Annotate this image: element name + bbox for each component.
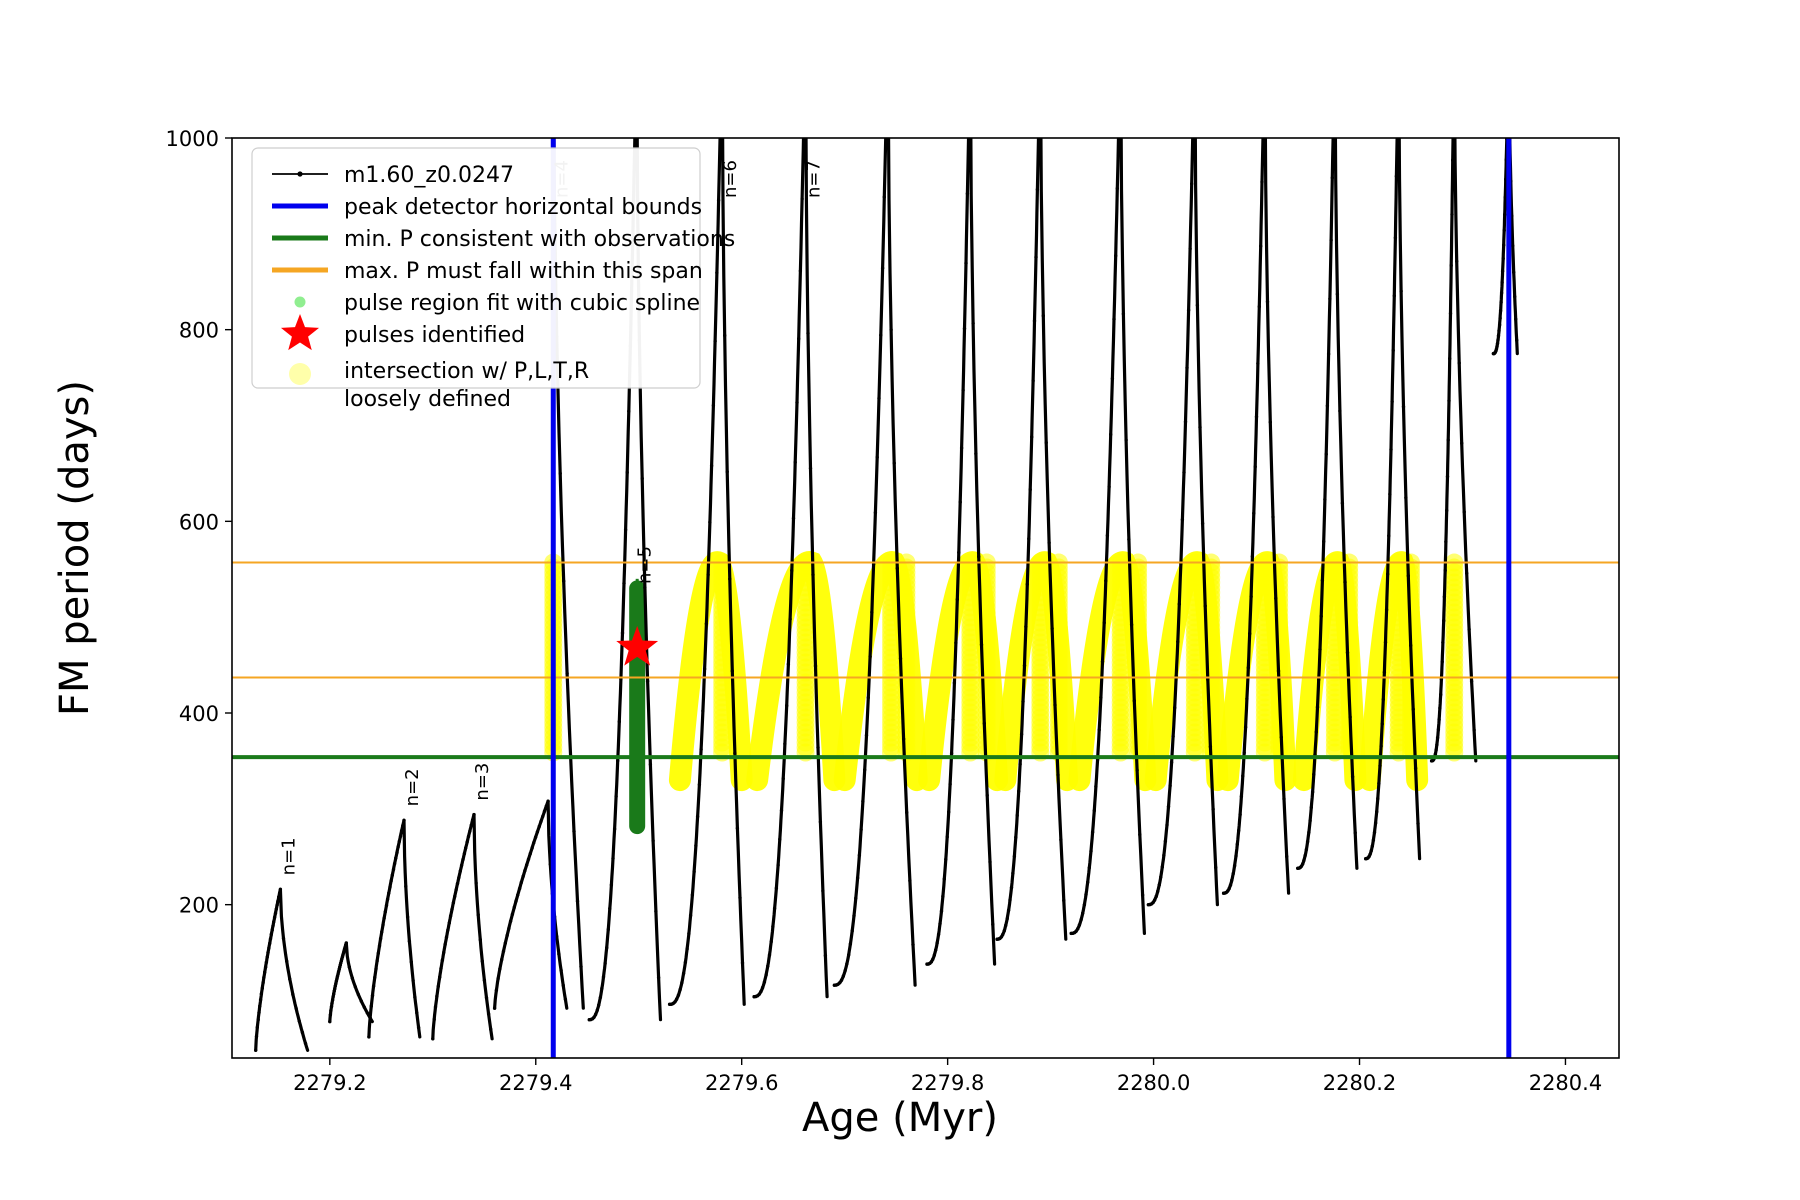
series-point bbox=[719, 122, 722, 125]
series-point bbox=[863, 768, 866, 771]
series-point bbox=[654, 910, 657, 913]
series-point bbox=[1237, 829, 1240, 832]
series-point bbox=[1329, 238, 1332, 241]
series-point bbox=[1318, 648, 1321, 651]
series-point bbox=[977, 555, 980, 558]
series-point bbox=[986, 794, 989, 797]
series-point bbox=[879, 333, 882, 336]
series-point bbox=[271, 928, 274, 931]
series-point bbox=[770, 940, 773, 943]
series-point bbox=[608, 907, 611, 910]
series-point bbox=[1455, 260, 1458, 263]
series-point bbox=[1104, 579, 1107, 582]
series-point bbox=[530, 846, 533, 849]
series-point bbox=[386, 898, 389, 901]
series-point bbox=[763, 980, 766, 983]
series-point bbox=[1497, 329, 1500, 332]
series-point bbox=[1114, 254, 1117, 257]
series-point bbox=[859, 828, 862, 831]
series-point bbox=[1315, 730, 1318, 733]
series-point bbox=[1161, 865, 1164, 868]
series-point bbox=[511, 913, 514, 916]
series-point bbox=[896, 567, 899, 570]
series-point bbox=[1514, 317, 1517, 320]
series-point bbox=[1081, 912, 1084, 915]
series-point bbox=[809, 467, 812, 470]
series-point bbox=[963, 327, 966, 330]
series-point bbox=[363, 1006, 366, 1009]
series-point bbox=[856, 876, 859, 879]
series-point bbox=[1047, 541, 1050, 544]
series-point bbox=[614, 795, 617, 798]
series-point bbox=[1176, 640, 1179, 643]
series-point bbox=[701, 709, 704, 712]
series-point bbox=[1311, 790, 1314, 793]
series-point bbox=[460, 864, 463, 867]
x-tick-label: 2280.2 bbox=[1323, 1071, 1396, 1095]
series-point bbox=[396, 845, 399, 848]
series-point bbox=[1306, 840, 1309, 843]
series-point bbox=[532, 841, 535, 844]
series-point bbox=[379, 937, 382, 940]
series-point bbox=[771, 925, 774, 928]
series-point bbox=[1507, 67, 1510, 70]
series-point bbox=[1441, 641, 1444, 644]
series-point bbox=[1214, 866, 1217, 869]
series-point bbox=[1010, 886, 1013, 889]
series-point bbox=[1320, 615, 1323, 618]
legend: m1.60_z0.0247peak detector horizontal bo… bbox=[252, 148, 735, 412]
series-point bbox=[291, 993, 294, 996]
series-point bbox=[271, 924, 274, 927]
series-point bbox=[1450, 264, 1453, 267]
series-point bbox=[1263, 41, 1266, 44]
series-point bbox=[1201, 522, 1204, 525]
series-point bbox=[529, 852, 532, 855]
series-point bbox=[785, 704, 788, 707]
series-point bbox=[1256, 362, 1259, 365]
x-tick-label: 2279.8 bbox=[911, 1071, 984, 1095]
series-point bbox=[1277, 669, 1280, 672]
series-point bbox=[1302, 859, 1305, 862]
series-point bbox=[761, 986, 764, 989]
series-point bbox=[1266, 300, 1269, 303]
series-point bbox=[448, 921, 451, 924]
series-point bbox=[1188, 247, 1191, 250]
series-point bbox=[1030, 435, 1033, 438]
series-point bbox=[787, 662, 790, 665]
series-point bbox=[402, 819, 405, 822]
series-point bbox=[259, 998, 262, 1001]
series-point bbox=[811, 573, 814, 576]
series-point bbox=[1331, 176, 1334, 179]
series-point bbox=[495, 989, 498, 992]
series-point bbox=[1017, 790, 1020, 793]
legend-label: pulse region fit with cubic spline bbox=[344, 291, 700, 316]
series-point bbox=[329, 1013, 332, 1016]
series-point bbox=[1001, 933, 1004, 936]
series-point bbox=[1021, 700, 1024, 703]
series-point bbox=[708, 520, 711, 523]
series-point bbox=[1370, 849, 1373, 852]
peak-label-n-5: n=5 bbox=[635, 546, 656, 584]
series-point bbox=[1395, 175, 1398, 178]
series-point bbox=[1122, 312, 1125, 315]
series-point bbox=[1495, 345, 1498, 348]
series-point bbox=[1341, 501, 1344, 504]
series-point bbox=[1117, 116, 1120, 119]
series-point bbox=[470, 824, 473, 827]
series-point bbox=[1404, 496, 1407, 499]
series-point bbox=[446, 928, 449, 931]
series-point bbox=[521, 875, 524, 878]
series-point bbox=[1387, 534, 1390, 537]
series-point bbox=[438, 975, 441, 978]
series-point bbox=[1451, 159, 1454, 162]
series-point bbox=[254, 1049, 257, 1052]
series-point bbox=[865, 734, 868, 737]
series-point bbox=[783, 742, 786, 745]
series-point bbox=[1211, 807, 1214, 810]
series-point bbox=[559, 472, 562, 475]
series-point bbox=[678, 988, 681, 991]
series-point bbox=[713, 339, 716, 342]
series-point bbox=[331, 998, 334, 1001]
series-point bbox=[328, 1020, 331, 1023]
series-point bbox=[1244, 726, 1247, 729]
series-point bbox=[696, 815, 699, 818]
series-point bbox=[677, 994, 680, 997]
series-point bbox=[931, 958, 934, 961]
series-point bbox=[260, 992, 263, 995]
series-point bbox=[1368, 853, 1371, 856]
series-point bbox=[493, 1007, 496, 1010]
series-point bbox=[1450, 213, 1453, 216]
series-point bbox=[1303, 854, 1306, 857]
series-point bbox=[266, 956, 269, 959]
series-point bbox=[1198, 426, 1201, 429]
series-point bbox=[1076, 927, 1079, 930]
series-point bbox=[819, 820, 822, 823]
series-point bbox=[465, 841, 468, 844]
series-point bbox=[1185, 366, 1188, 369]
series-point bbox=[1243, 751, 1246, 754]
series-point bbox=[1343, 580, 1346, 583]
series-point bbox=[1101, 660, 1104, 663]
series-point bbox=[387, 891, 390, 894]
series-point bbox=[1234, 854, 1237, 857]
series-point bbox=[433, 1018, 436, 1021]
series-point bbox=[858, 854, 861, 857]
series-point bbox=[471, 818, 474, 821]
series-point bbox=[797, 337, 800, 340]
series-point bbox=[698, 783, 701, 786]
series-point bbox=[966, 192, 969, 195]
series-point bbox=[394, 856, 397, 859]
series-point bbox=[276, 899, 279, 902]
series-point bbox=[1241, 774, 1244, 777]
series-point bbox=[1397, 41, 1400, 44]
series-point bbox=[304, 1042, 307, 1045]
series-point bbox=[282, 937, 285, 940]
series-point bbox=[1402, 405, 1405, 408]
series-point bbox=[684, 961, 687, 964]
series-point bbox=[1138, 833, 1141, 836]
series-point bbox=[267, 946, 270, 949]
series-point bbox=[804, 41, 807, 44]
series-point bbox=[1447, 399, 1450, 402]
series-point bbox=[643, 586, 646, 589]
series-point bbox=[1037, 116, 1040, 119]
series-point bbox=[1059, 838, 1062, 841]
series-point bbox=[468, 829, 471, 832]
series-point bbox=[1251, 555, 1254, 558]
series-point bbox=[261, 981, 264, 984]
series-point bbox=[1271, 515, 1274, 518]
series-point bbox=[523, 869, 526, 872]
series-point bbox=[1098, 728, 1101, 731]
series-point bbox=[1498, 317, 1501, 320]
series-point bbox=[1501, 269, 1504, 272]
series-point bbox=[1024, 625, 1027, 628]
series-point bbox=[1351, 775, 1354, 778]
series-point bbox=[273, 916, 276, 919]
series-point bbox=[1446, 475, 1449, 478]
series-point bbox=[389, 879, 392, 882]
series-point bbox=[712, 404, 715, 407]
series-point bbox=[1247, 666, 1250, 669]
series-point bbox=[940, 909, 943, 912]
series-point bbox=[1260, 180, 1263, 183]
series-point bbox=[956, 598, 959, 601]
series-point bbox=[1416, 822, 1419, 825]
series-point bbox=[483, 979, 486, 982]
series-point bbox=[680, 981, 683, 984]
series-point bbox=[886, 41, 889, 44]
series-point bbox=[1187, 308, 1190, 311]
series-point bbox=[607, 928, 610, 931]
series-point bbox=[274, 912, 277, 915]
series-point bbox=[1447, 438, 1450, 441]
series-point bbox=[782, 777, 785, 780]
series-point bbox=[991, 923, 994, 926]
series-point bbox=[277, 895, 280, 898]
series-point bbox=[741, 961, 744, 964]
series-point bbox=[1171, 735, 1174, 738]
series-point bbox=[1438, 706, 1441, 709]
series-point bbox=[736, 827, 739, 830]
series-point bbox=[1379, 744, 1382, 747]
series-point bbox=[1465, 572, 1468, 575]
series-point bbox=[1384, 641, 1387, 644]
series-point bbox=[840, 979, 843, 982]
series-point bbox=[692, 870, 695, 873]
series-point bbox=[790, 569, 793, 572]
series-point bbox=[404, 885, 407, 888]
series-point bbox=[1089, 849, 1092, 852]
series-point bbox=[1238, 813, 1241, 816]
series-point bbox=[398, 840, 401, 843]
series-point bbox=[1375, 810, 1378, 813]
peak-label-n-7: n=7 bbox=[804, 160, 825, 198]
series-point bbox=[373, 976, 376, 979]
series-point bbox=[1007, 909, 1010, 912]
series-point bbox=[400, 829, 403, 832]
series-point bbox=[1026, 583, 1029, 586]
series-point bbox=[391, 874, 394, 877]
series-point bbox=[868, 655, 871, 658]
series-point bbox=[602, 975, 605, 978]
series-point bbox=[1385, 608, 1388, 611]
series-point bbox=[946, 835, 949, 838]
series-point bbox=[792, 517, 795, 520]
series-point bbox=[616, 759, 619, 762]
series-point bbox=[1093, 809, 1096, 812]
series-point bbox=[974, 452, 977, 455]
series-point bbox=[597, 1003, 600, 1006]
series-point bbox=[301, 1031, 304, 1034]
series-point bbox=[457, 876, 460, 879]
series-point bbox=[1393, 294, 1396, 297]
series-point bbox=[969, 41, 972, 44]
series-point bbox=[1381, 722, 1384, 725]
legend-glyph-dot bbox=[295, 297, 306, 308]
series-point bbox=[481, 960, 484, 963]
series-point bbox=[948, 783, 951, 786]
series-point bbox=[1193, 41, 1196, 44]
series-point bbox=[1325, 453, 1328, 456]
series-point bbox=[1155, 895, 1158, 898]
series-point bbox=[1236, 843, 1239, 846]
series-point bbox=[1498, 323, 1501, 326]
series-point bbox=[618, 720, 621, 723]
series-point bbox=[450, 908, 453, 911]
series-point bbox=[1394, 236, 1397, 239]
series-point bbox=[884, 120, 887, 123]
series-point bbox=[1308, 819, 1311, 822]
series-point bbox=[960, 446, 963, 449]
series-point bbox=[594, 1013, 597, 1016]
series-point bbox=[1280, 736, 1283, 739]
series-point bbox=[1050, 627, 1053, 630]
series-point bbox=[395, 851, 398, 854]
series-point bbox=[288, 978, 291, 981]
series-point bbox=[728, 577, 731, 580]
series-point bbox=[1233, 864, 1236, 867]
series-point bbox=[256, 1026, 259, 1029]
series-point bbox=[298, 1019, 301, 1022]
series-point bbox=[1452, 101, 1455, 104]
series-point bbox=[294, 1007, 297, 1010]
series-point bbox=[504, 942, 507, 945]
series-point bbox=[1316, 705, 1319, 708]
series-point bbox=[431, 1037, 434, 1040]
series-point bbox=[1167, 805, 1170, 808]
series-point bbox=[780, 809, 783, 812]
series-point bbox=[275, 903, 278, 906]
series-point bbox=[881, 266, 884, 269]
series-point bbox=[1173, 706, 1176, 709]
series-point bbox=[467, 835, 470, 838]
series-point bbox=[1240, 795, 1243, 798]
series-point bbox=[941, 895, 944, 898]
series-point bbox=[1503, 229, 1506, 232]
series-point bbox=[1378, 764, 1381, 767]
series-point bbox=[545, 805, 548, 808]
series-point bbox=[691, 893, 694, 896]
series-point bbox=[876, 456, 879, 459]
series-point bbox=[824, 954, 827, 957]
series-point bbox=[477, 913, 480, 916]
series-point bbox=[851, 929, 854, 932]
series-point bbox=[1285, 855, 1288, 858]
series-point bbox=[1016, 814, 1019, 817]
series-point bbox=[947, 810, 950, 813]
series-point bbox=[472, 813, 475, 816]
series-point bbox=[816, 746, 819, 749]
series-point bbox=[814, 664, 817, 667]
series-point bbox=[889, 328, 892, 331]
series-point bbox=[496, 977, 499, 980]
series-point bbox=[1301, 862, 1304, 865]
series-point bbox=[445, 936, 448, 939]
figure-canvas: 2279.22279.42279.62279.82280.02280.22280… bbox=[0, 0, 1800, 1200]
series-point bbox=[852, 914, 855, 917]
peak-label-n-2: n=2 bbox=[402, 768, 423, 806]
series-point bbox=[520, 881, 523, 884]
series-point bbox=[1254, 465, 1257, 468]
series-point bbox=[408, 940, 411, 943]
peak-label-n-3: n=3 bbox=[472, 763, 493, 801]
series-point bbox=[370, 1004, 373, 1007]
series-point bbox=[348, 965, 351, 968]
series-point bbox=[1327, 352, 1330, 355]
series-point bbox=[1515, 339, 1518, 342]
series-point bbox=[559, 969, 562, 972]
series-point bbox=[605, 946, 608, 949]
series-point bbox=[1274, 597, 1277, 600]
series-point bbox=[944, 858, 947, 861]
series-point bbox=[983, 722, 986, 725]
series-point bbox=[1182, 471, 1185, 474]
series-point bbox=[543, 810, 546, 813]
series-point bbox=[1130, 623, 1133, 626]
series-point bbox=[964, 261, 967, 264]
series-point bbox=[278, 892, 281, 895]
series-point bbox=[685, 947, 688, 950]
series-point bbox=[1374, 821, 1377, 824]
series-point bbox=[330, 1005, 333, 1008]
series-point bbox=[266, 951, 269, 954]
series-point bbox=[703, 667, 706, 670]
x-axis-label: Age (Myr) bbox=[0, 1095, 1800, 1141]
series-point bbox=[411, 979, 414, 982]
series-point bbox=[536, 830, 539, 833]
series-point bbox=[1039, 41, 1042, 44]
series-point bbox=[1336, 292, 1339, 295]
series-point bbox=[385, 904, 388, 907]
series-point bbox=[377, 952, 380, 955]
series-point bbox=[622, 582, 625, 585]
peak-label-n-1: n=1 bbox=[278, 837, 299, 875]
series-point bbox=[1435, 743, 1438, 746]
series-point bbox=[1014, 836, 1017, 839]
series-point bbox=[498, 967, 501, 970]
series-point bbox=[257, 1011, 260, 1014]
series-point bbox=[1141, 893, 1144, 896]
series-point bbox=[572, 830, 575, 833]
series-point bbox=[1209, 745, 1212, 748]
